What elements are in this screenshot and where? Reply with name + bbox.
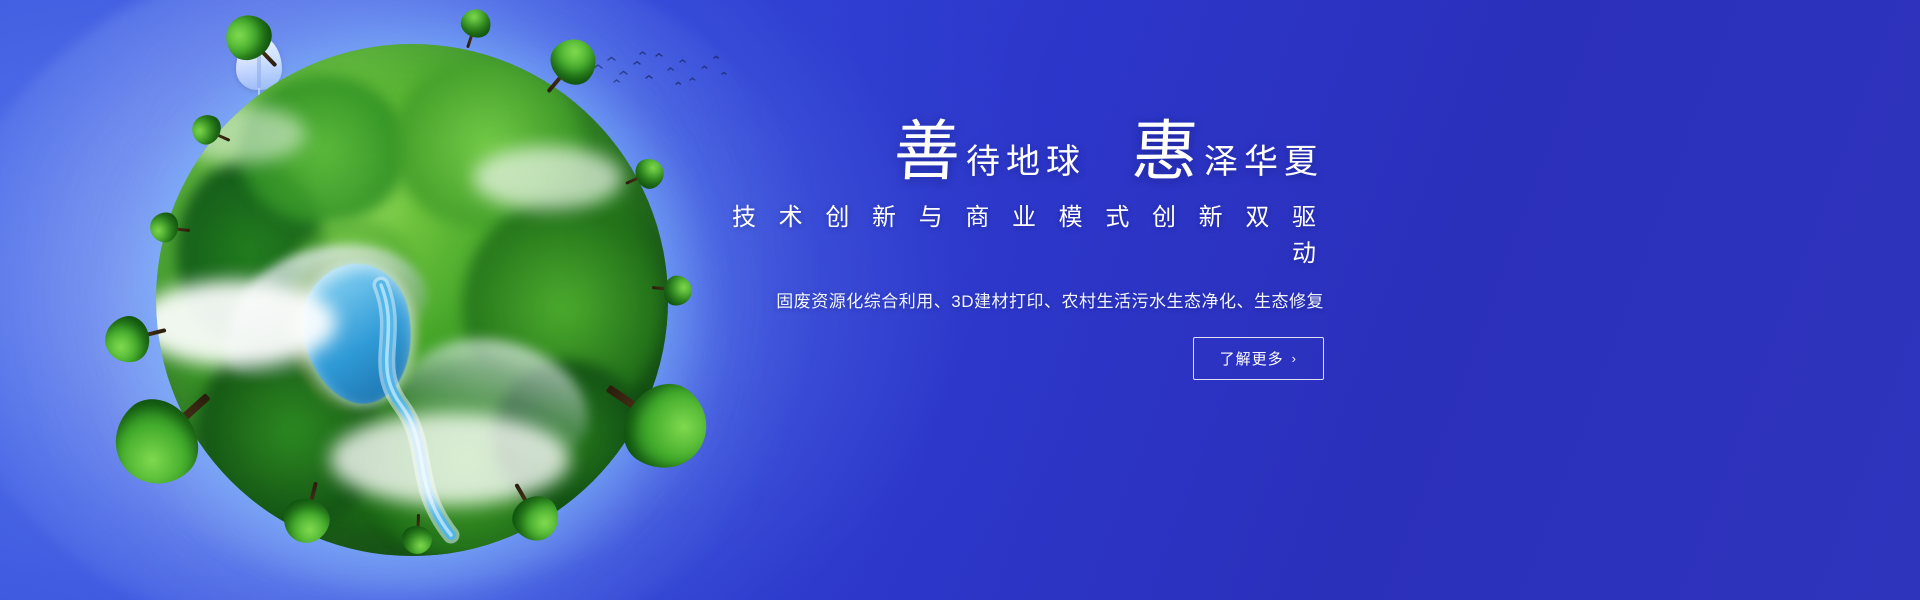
hero-banner: 善 待地球 惠 泽华夏 技 术 创 新 与 商 业 模 式 创 新 双 驱 动 … — [0, 0, 1920, 600]
banner-headline: 善 待地球 惠 泽华夏 — [724, 120, 1324, 186]
learn-more-button[interactable]: 了解更多 › — [1193, 337, 1324, 380]
planet-sphere — [156, 44, 668, 556]
banner-description: 固废资源化综合利用、3D建材打印、农村生活污水生态净化、生态修复 — [724, 288, 1324, 315]
headline-brush-char-1: 善 — [892, 120, 961, 186]
headline-rest-1: 待地球 — [966, 146, 1086, 186]
headline-brush-char-2: 惠 — [1130, 120, 1199, 186]
headline-part-1: 善 待地球 — [894, 120, 1086, 186]
headline-rest-2: 泽华夏 — [1204, 146, 1324, 186]
learn-more-label: 了解更多 — [1220, 348, 1284, 369]
banner-content: 善 待地球 惠 泽华夏 技 术 创 新 与 商 业 模 式 创 新 双 驱 动 … — [724, 120, 1324, 380]
cta-row: 了解更多 › — [724, 337, 1324, 380]
cloud — [330, 413, 570, 505]
headline-part-2: 惠 泽华夏 — [1132, 120, 1324, 186]
cloud — [473, 146, 623, 210]
tiny-planet-illustration — [156, 44, 668, 556]
chevron-right-icon: › — [1292, 351, 1297, 366]
banner-subtitle: 技 术 创 新 与 商 业 模 式 创 新 双 驱 动 — [724, 200, 1324, 272]
